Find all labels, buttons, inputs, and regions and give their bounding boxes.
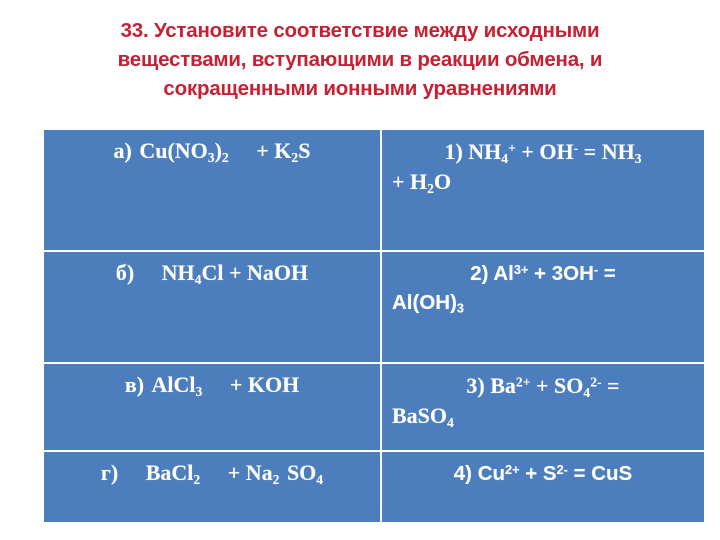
equation-2: 2) Al3+ + 3OH- = Al(OH)3 — [382, 252, 704, 323]
formula-b: б)NH4Cl + NaOH — [44, 252, 380, 293]
option-label-1: 1) — [444, 139, 462, 164]
table-row: в)AlCl3+ KOH 3) Ba2+ + SO42- = BaSO4 — [43, 363, 705, 451]
table-row: б)NH4Cl + NaOH 2) Al3+ + 3OH- = Al(OH)3 — [43, 251, 705, 363]
substances-cell-v[interactable]: в)AlCl3+ KOH — [43, 363, 381, 451]
formula-a: а)Cu(NO3)2+ K2S — [44, 130, 380, 171]
item-label-a: а) — [114, 138, 132, 163]
option-label-3: 3) — [466, 373, 484, 398]
equation-cell-1[interactable]: 1) NH4+ + OH- = NH3 + H2O — [381, 129, 705, 251]
formula-g: г)BaCl2+ Na2SO4 — [44, 452, 380, 493]
item-label-g: г) — [101, 460, 118, 485]
equation-4: 4) Cu2+ + S2- = CuS — [382, 452, 704, 494]
title-line-3: сокращенными ионными уравнениями — [22, 74, 698, 103]
title-line-1: 33. Установите соответствие между исходн… — [22, 16, 698, 45]
option-label-2: 2) — [470, 262, 488, 285]
equation-cell-4[interactable]: 4) Cu2+ + S2- = CuS — [381, 451, 705, 523]
formula-v: в)AlCl3+ KOH — [44, 364, 380, 405]
table-row: г)BaCl2+ Na2SO4 4) Cu2+ + S2- = CuS — [43, 451, 705, 523]
item-label-b: б) — [116, 260, 134, 285]
equation-cell-2[interactable]: 2) Al3+ + 3OH- = Al(OH)3 — [381, 251, 705, 363]
substances-cell-a[interactable]: а)Cu(NO3)2+ K2S — [43, 129, 381, 251]
equation-3: 3) Ba2+ + SO42- = BaSO4 — [382, 364, 704, 437]
item-label-v: в) — [125, 372, 144, 397]
equation-cell-3[interactable]: 3) Ba2+ + SO42- = BaSO4 — [381, 363, 705, 451]
substances-cell-b[interactable]: б)NH4Cl + NaOH — [43, 251, 381, 363]
table-row: а)Cu(NO3)2+ K2S 1) NH4+ + OH- = NH3 + H2… — [43, 129, 705, 251]
title-line-2: веществами, вступающими в реакции обмена… — [22, 45, 698, 74]
substances-cell-g[interactable]: г)BaCl2+ Na2SO4 — [43, 451, 381, 523]
option-label-4: 4) — [454, 462, 472, 485]
matching-table: а)Cu(NO3)2+ K2S 1) NH4+ + OH- = NH3 + H2… — [42, 128, 706, 524]
page-title: 33. Установите соответствие между исходн… — [0, 16, 720, 103]
equation-1: 1) NH4+ + OH- = NH3 + H2O — [382, 130, 704, 203]
